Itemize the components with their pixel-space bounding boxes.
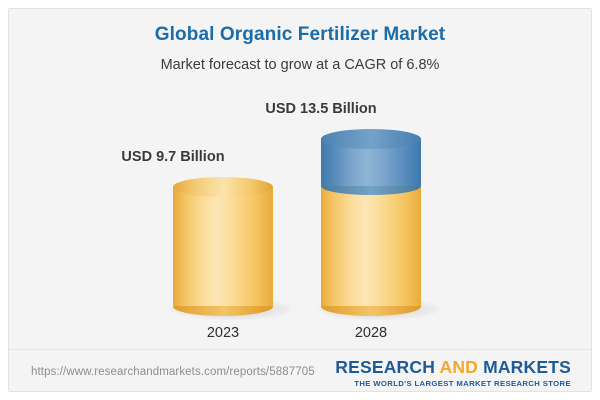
brand-tagline: THE WORLD'S LARGEST MARKET RESEARCH STOR…: [335, 379, 571, 389]
bar-cylinder-top-2028: [321, 129, 421, 149]
bar-cylinder-top-2023: [173, 177, 273, 197]
brand-name: RESEARCH AND MARKETS: [335, 358, 571, 377]
brand-logo[interactable]: RESEARCH AND MARKETS THE WORLD'S LARGEST…: [335, 358, 571, 389]
footer: https://www.researchandmarkets.com/repor…: [9, 350, 592, 392]
brand-word-research: RESEARCH: [335, 357, 439, 377]
bar-value-label-2028: USD 13.5 Billion: [211, 101, 431, 117]
brand-word-markets: MARKETS: [483, 357, 571, 377]
infographic-root: Global Organic Fertilizer Market Market …: [0, 0, 600, 400]
bar-chart-plot-area: USD 9.7 Billion 2023 USD 13.5 Billion: [9, 9, 592, 392]
x-axis-label-2028: 2028: [261, 325, 481, 341]
infographic-card: Global Organic Fertilizer Market Market …: [8, 8, 592, 392]
brand-word-and: AND: [439, 357, 483, 377]
report-url-link[interactable]: https://www.researchandmarkets.com/repor…: [31, 366, 315, 378]
bar-segment-base-2028[interactable]: [321, 186, 421, 306]
bar-value-label-2023: USD 9.7 Billion: [63, 149, 283, 165]
bar-segment-base-2023[interactable]: [173, 187, 273, 306]
